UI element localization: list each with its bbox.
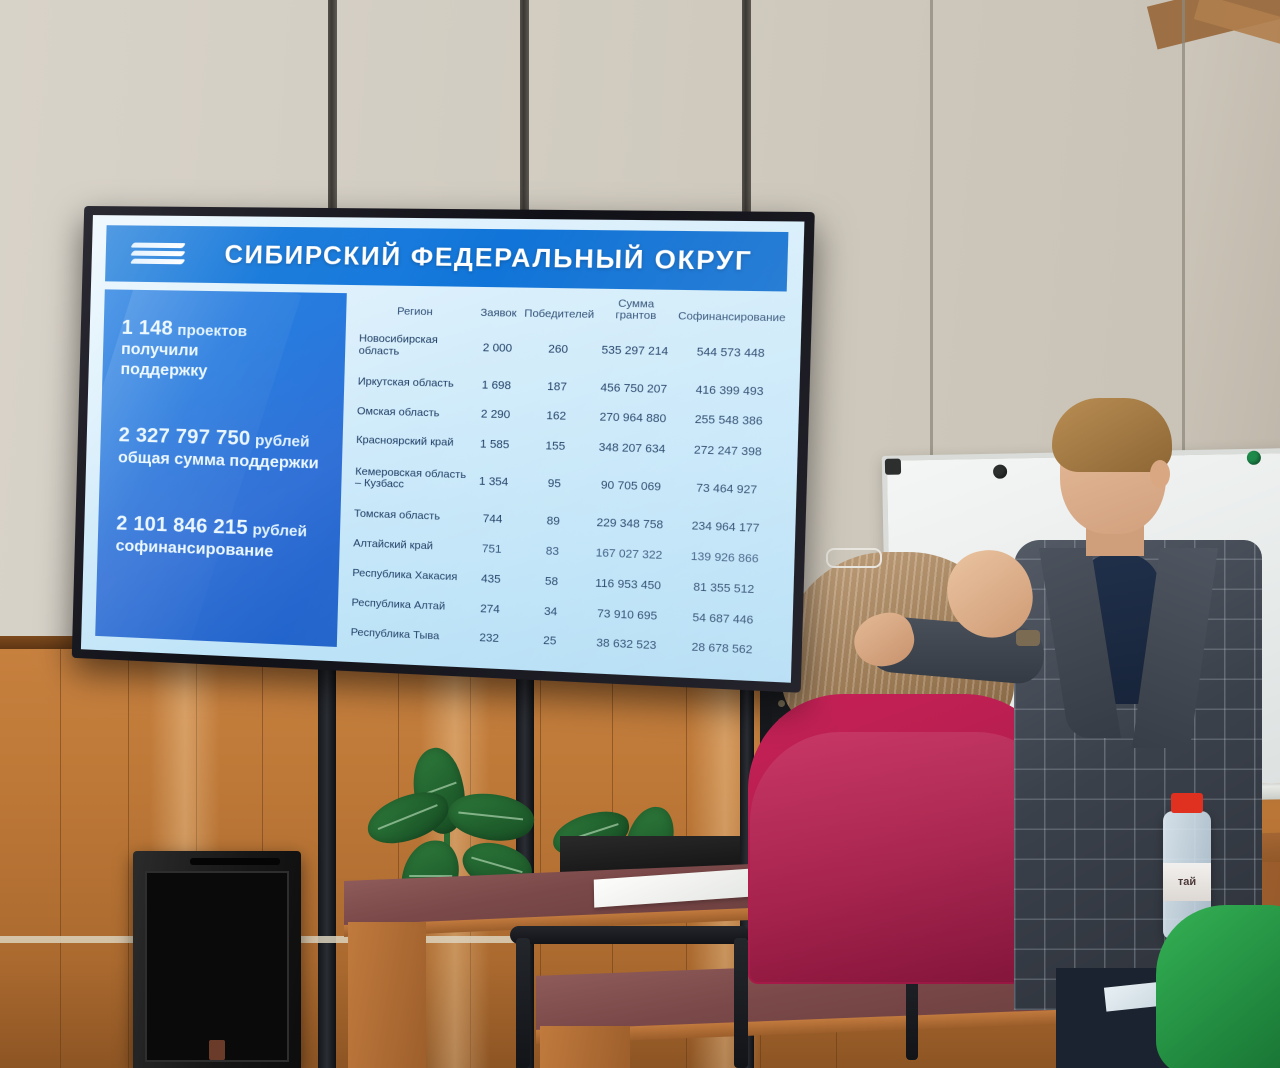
stat-projects-line3: поддержку — [120, 361, 207, 380]
three-bars-logo-icon — [131, 239, 198, 270]
cell-grants: 90 705 069 — [593, 463, 669, 511]
cell-cofinancing: 416 399 493 — [671, 374, 789, 407]
tv-screen[interactable]: СИБИРСКИЙ ФЕДЕРАЛЬНЫЙ ОКРУГ 1 148 проект… — [81, 215, 805, 683]
stat-total-support-value: 2 327 797 750 — [118, 425, 250, 451]
col-region: Регион — [356, 293, 477, 325]
cell-cofinancing: 272 247 398 — [669, 435, 787, 469]
cell-winners: 83 — [513, 535, 592, 568]
slide-header: СИБИРСКИЙ ФЕДЕРАЛЬНЫЙ ОКРУГ — [105, 225, 788, 291]
chair-front-left-post[interactable] — [516, 938, 530, 1068]
cell-applications: 274 — [468, 593, 512, 625]
col-applications: Заявок — [476, 295, 520, 326]
cell-grants: 116 953 450 — [590, 568, 666, 601]
cell-winners: 89 — [514, 505, 593, 538]
loudspeaker-cabinet — [133, 851, 301, 1068]
cell-grants: 167 027 322 — [591, 538, 667, 571]
cell-applications: 744 — [470, 504, 514, 535]
speaker-handle — [190, 858, 280, 865]
stat-projects-value: 1 148 — [121, 317, 173, 340]
cell-winners: 25 — [510, 625, 589, 659]
stat-total-support-label: общая сумма поддержки — [118, 449, 319, 472]
cell-grants: 348 207 634 — [594, 433, 670, 465]
bottle-label: тай — [1163, 863, 1211, 901]
bottle-cap[interactable] — [1171, 793, 1203, 813]
stat-cofinancing-value: 2 101 846 215 — [116, 513, 248, 540]
cell-cofinancing: 28 678 562 — [663, 632, 781, 668]
cell-cofinancing: 544 573 448 — [672, 329, 790, 377]
cell-grants: 456 750 207 — [596, 373, 672, 405]
cell-region: Иркутская область — [354, 367, 475, 399]
attendee-hair-clip — [826, 548, 882, 568]
cell-grants: 229 348 758 — [592, 508, 668, 541]
cell-winners: 95 — [515, 461, 594, 508]
stat-projects-line2: получили — [121, 341, 199, 360]
cell-region: Республика Тыва — [347, 618, 468, 653]
cell-winners: 260 — [519, 326, 598, 373]
slide-body: 1 148 проектов получили поддержку 2 327 … — [95, 289, 791, 667]
whiteboard-corner — [885, 459, 901, 475]
cell-region: Новосибирскаяобласть — [355, 323, 476, 370]
cell-applications: 232 — [467, 623, 511, 655]
cell-cofinancing: 255 548 386 — [670, 405, 788, 438]
cell-winners: 162 — [517, 401, 596, 433]
cell-applications: 2 000 — [475, 325, 520, 371]
speaker-badge — [209, 1040, 225, 1060]
green-bag — [1156, 905, 1280, 1068]
chair-front-left-post[interactable] — [734, 938, 748, 1068]
cell-region: Алтайский край — [350, 529, 471, 563]
cell-applications: 1 354 — [471, 459, 516, 505]
desk-side-panel — [348, 922, 426, 1068]
wall-mounted-tv[interactable]: СИБИРСКИЙ ФЕДЕРАЛЬНЫЙ ОКРУГ 1 148 проект… — [72, 206, 815, 693]
cell-applications: 1 698 — [474, 370, 518, 401]
table-body: Новосибирскаяобласть2 000260535 297 2145… — [347, 323, 790, 667]
cell-region: Красноярский край — [353, 426, 474, 459]
speaker-grill — [145, 871, 289, 1062]
stat-total-support-unit: рублей — [255, 432, 310, 451]
cell-applications: 1 585 — [473, 430, 517, 461]
cell-winners: 34 — [511, 595, 590, 628]
cell-cofinancing: 234 964 177 — [667, 510, 785, 544]
col-cofinancing: Софинансирование — [673, 298, 791, 331]
cell-region: Омская область — [353, 397, 474, 430]
cell-grants: 73 910 695 — [589, 598, 665, 631]
stat-cofinancing: 2 101 846 215 рублей софинансирование — [115, 512, 323, 564]
col-grants-line2: грантов — [615, 309, 656, 322]
cell-winners: 58 — [512, 565, 591, 598]
stat-projects-unit: проектов — [177, 322, 247, 341]
stat-total-support: 2 327 797 750 рублей общая сумма поддерж… — [118, 424, 327, 475]
cell-grants: 38 632 523 — [588, 628, 664, 662]
slide-stats-panel: 1 148 проектов получили поддержку 2 327 … — [95, 289, 347, 647]
cell-winners: 187 — [518, 371, 597, 403]
desk-side-panel — [540, 1026, 630, 1068]
conference-room-scene: тай СИБИРСКИЙ ФЕДЕРАЛЬНЫЙ ОКРУГ 1 148 пр — [0, 0, 1280, 1068]
stat-cofinancing-label: софинансирование — [115, 537, 273, 560]
col-grants: Сумма грантов — [598, 297, 674, 329]
chair-front-left[interactable] — [510, 926, 750, 944]
cell-applications: 751 — [470, 534, 514, 565]
cell-cofinancing: 81 355 512 — [665, 571, 783, 606]
presenter-ear — [1150, 460, 1170, 488]
col-winners: Победителей — [520, 296, 599, 328]
presentation-slide: СИБИРСКИЙ ФЕДЕРАЛЬНЫЙ ОКРУГ 1 148 проект… — [81, 215, 805, 683]
cell-winners: 155 — [516, 431, 595, 463]
slide-title: СИБИРСКИЙ ФЕДЕРАЛЬНЫЙ ОКРУГ — [224, 240, 753, 277]
cell-grants: 535 297 214 — [597, 327, 673, 374]
cell-region: Кемеровская область– Кузбасс — [351, 456, 472, 504]
cell-cofinancing: 139 926 866 — [666, 541, 784, 576]
cell-applications: 435 — [469, 564, 513, 596]
cell-grants: 270 964 880 — [595, 403, 671, 435]
presenter-wristwatch — [1016, 630, 1040, 646]
regions-table: Регион Заявок Победителей Сумма грантов … — [347, 293, 791, 667]
cell-cofinancing: 73 464 927 — [668, 465, 786, 514]
cell-applications: 2 290 — [473, 400, 517, 431]
cell-region: Томская область — [351, 500, 472, 534]
stat-cofinancing-unit: рублей — [252, 522, 307, 541]
stat-projects: 1 148 проектов получили поддержку — [120, 316, 329, 385]
